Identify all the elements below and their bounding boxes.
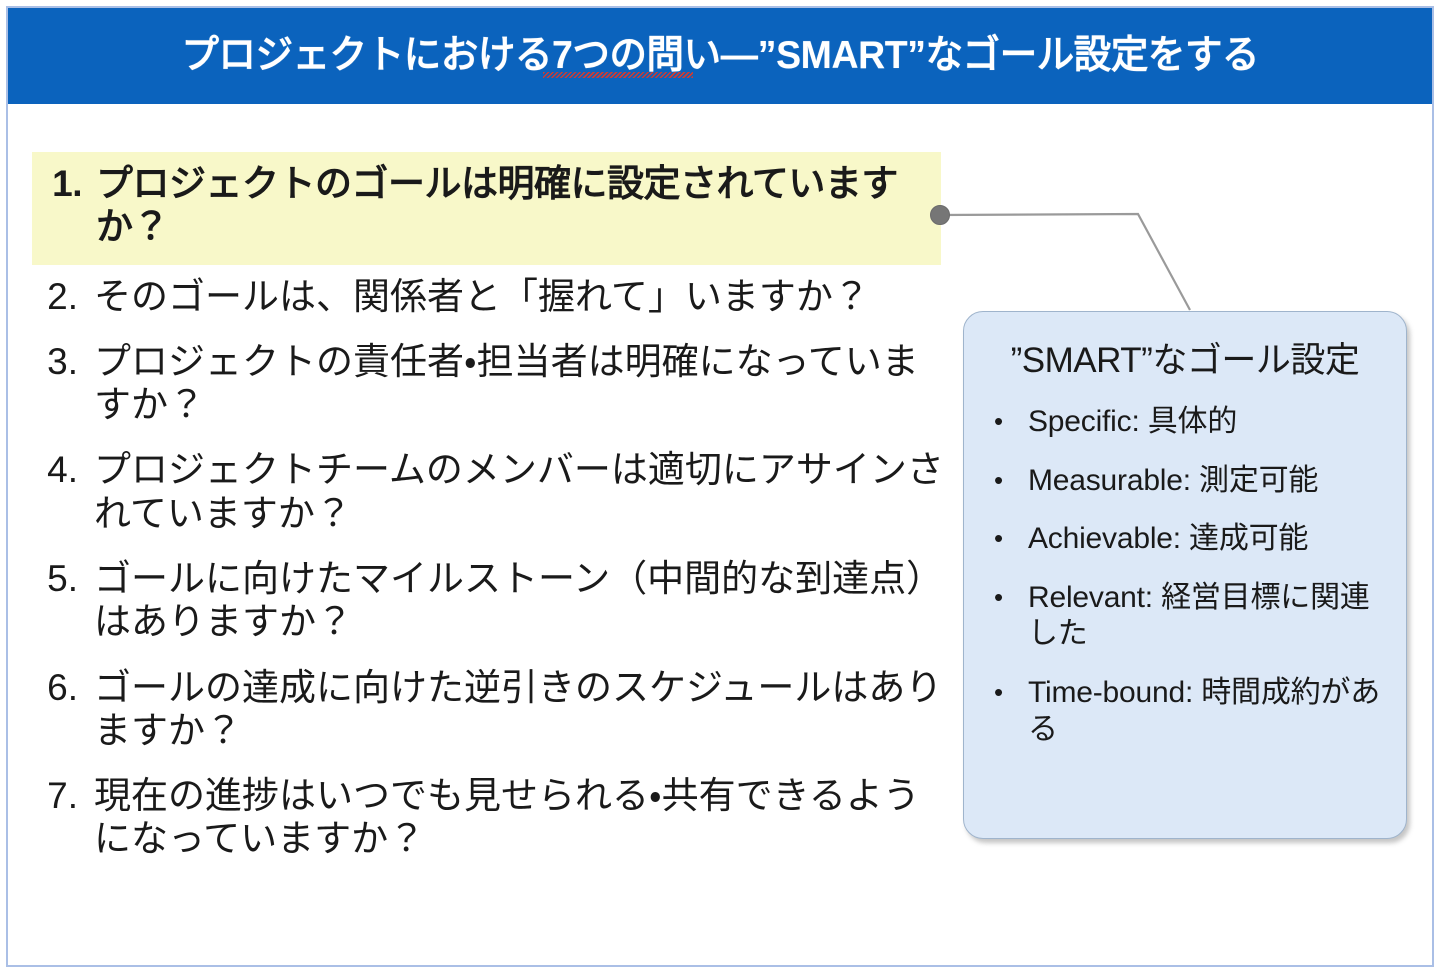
smart-item-label: Specific: 具体的 [1028, 404, 1388, 441]
question-number: 5. [32, 557, 94, 600]
question-text: プロジェクトの責任者・担当者は明確になっていますか？ [94, 340, 944, 427]
question-text: ゴールに向けたマイルストーン（中間的な到達点）はありますか？ [94, 557, 944, 644]
list-item-question-4: 4. プロジェクトチームのメンバーは適切にアサインされていますか？ [32, 444, 944, 537]
smart-item-label: Measurable: 測定可能 [1028, 463, 1388, 500]
bullet-icon: • [982, 404, 1028, 440]
smart-item-label: Time-bound: 時間成約がある [1028, 675, 1388, 748]
smart-bullet-list: • Specific: 具体的 • Measurable: 測定可能 • Ach… [982, 404, 1388, 748]
list-item-question-1: 1. プロジェクトのゴールは明確に設定されていますか？ [32, 152, 941, 265]
question-text: そのゴールは、関係者と「握れて」いますか？ [94, 275, 944, 318]
list-item-question-3: 3. プロジェクトの責任者・担当者は明確になっていますか？ [32, 336, 944, 429]
question-number: 3. [32, 340, 94, 383]
slide-title-banner: プロジェクトにおける7つの問い―”SMART”なゴール設定をする [8, 8, 1432, 104]
bullet-icon: • [982, 521, 1028, 557]
connector-path [940, 214, 1190, 310]
list-item-question-2: 2. そのゴールは、関係者と「握れて」いますか？ [32, 271, 944, 320]
page-title: プロジェクトにおける7つの問い―”SMART”なゴール設定をする [181, 35, 1259, 78]
smart-callout-box: ”SMART”なゴール設定 • Specific: 具体的 • Measurab… [963, 311, 1407, 839]
list-item-question-7: 7. 現在の進捗はいつでも見せられる・共有できるようになっていますか？ [32, 770, 944, 863]
bullet-icon: • [982, 675, 1028, 711]
list-item-smart-achievable: • Achievable: 達成可能 [982, 521, 1388, 558]
list-item-smart-measurable: • Measurable: 測定可能 [982, 463, 1388, 500]
question-text: プロジェクトチームのメンバーは適切にアサインされていますか？ [94, 448, 944, 535]
question-list: 1. プロジェクトのゴールは明確に設定されていますか？ 2. そのゴールは、関係… [32, 152, 944, 879]
list-item-smart-relevant: • Relevant: 経営目標に関連した [982, 580, 1388, 653]
list-item-smart-specific: • Specific: 具体的 [982, 404, 1388, 441]
question-text: 現在の進捗はいつでも見せられる・共有できるようになっていますか？ [94, 774, 944, 861]
question-number: 4. [32, 448, 94, 491]
bullet-icon: • [982, 463, 1028, 499]
question-text: ゴールの達成に向けた逆引きのスケジュールはありますか？ [94, 666, 944, 753]
bullet-icon: • [982, 580, 1028, 616]
slide: プロジェクトにおける7つの問い―”SMART”なゴール設定をする 1. プロジェ… [0, 0, 1440, 973]
smart-item-label: Achievable: 達成可能 [1028, 521, 1388, 558]
question-number: 2. [32, 275, 94, 318]
list-item-question-5: 5. ゴールに向けたマイルストーン（中間的な到達点）はありますか？ [32, 553, 944, 646]
smart-item-label: Relevant: 経営目標に関連した [1028, 580, 1388, 653]
question-text: プロジェクトのゴールは明確に設定されていますか？ [96, 162, 941, 249]
question-number: 1. [32, 162, 96, 205]
question-number: 6. [32, 666, 94, 709]
question-number: 7. [32, 774, 94, 817]
list-item-question-6: 6. ゴールの達成に向けた逆引きのスケジュールはありますか？ [32, 662, 944, 755]
list-item-smart-timebound: • Time-bound: 時間成約がある [982, 675, 1388, 748]
callout-title: ”SMART”なゴール設定 [982, 340, 1388, 382]
